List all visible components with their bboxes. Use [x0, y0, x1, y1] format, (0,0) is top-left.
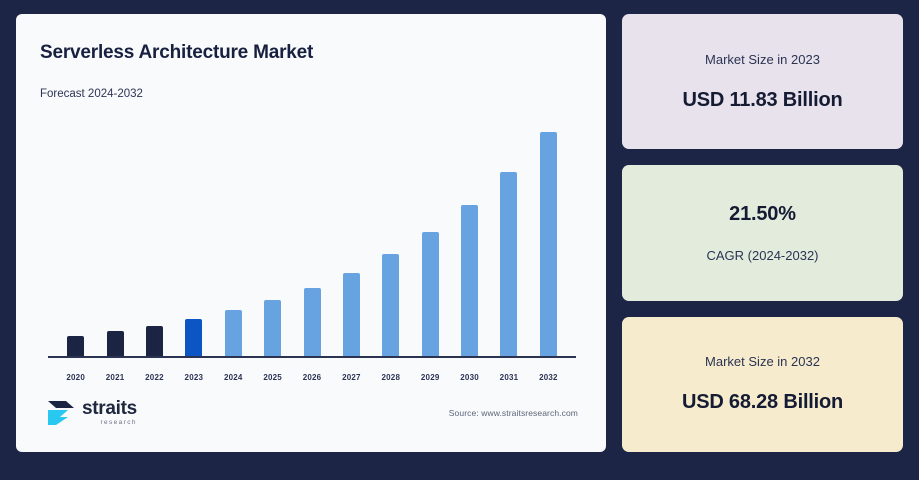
x-axis-label-2020: 2020: [66, 373, 85, 382]
bar-slot: 2030: [450, 110, 489, 358]
bar-slot: 2023: [174, 110, 213, 358]
bar-2024: [225, 310, 242, 358]
stat-card-1: Market Size in 2023USD 11.83 Billion: [622, 14, 903, 149]
x-axis-label-2023: 2023: [185, 373, 204, 382]
bar-2028: [382, 254, 399, 358]
logo-subtext: research: [100, 420, 137, 427]
x-axis-label-2029: 2029: [421, 373, 440, 382]
bar-slot: 2029: [411, 110, 450, 358]
x-axis-label-2031: 2031: [500, 373, 519, 382]
stat-card-caption: Market Size in 2023: [705, 52, 820, 67]
chart-title: Serverless Architecture Market: [40, 42, 582, 64]
x-axis-label-2024: 2024: [224, 373, 243, 382]
bar-slot: 2032: [529, 110, 568, 358]
logo-text: straits research: [82, 399, 137, 427]
x-axis-label-2027: 2027: [342, 373, 361, 382]
bar-2027: [343, 273, 360, 358]
straits-research-logo: straits research: [46, 399, 137, 427]
bar-2021: [107, 331, 124, 358]
chart-panel: Serverless Architecture Market Forecast …: [16, 14, 606, 452]
bar-2020: [67, 336, 84, 358]
stat-card-value: 21.50%: [729, 203, 796, 226]
x-axis-label-2026: 2026: [303, 373, 322, 382]
bar-slot: 2026: [292, 110, 331, 358]
bar-2023: [185, 319, 202, 358]
bar-2025: [264, 300, 281, 358]
stat-card-caption: Market Size in 2032: [705, 354, 820, 369]
stat-card-list: Market Size in 2023USD 11.83 Billion21.5…: [622, 14, 903, 452]
bar-2031: [500, 172, 517, 358]
x-axis-label-2025: 2025: [263, 373, 282, 382]
stat-card-value: USD 68.28 Billion: [682, 391, 843, 414]
stat-card-3: Market Size in 2032USD 68.28 Billion: [622, 317, 903, 452]
bar-slot: 2028: [371, 110, 410, 358]
bar-slot: 2027: [332, 110, 371, 358]
bar-2032: [540, 132, 557, 358]
bar-slot: 2020: [56, 110, 95, 358]
panel-footer: straits research Source: www.straitsrese…: [40, 390, 582, 436]
x-axis-label-2032: 2032: [539, 373, 558, 382]
chart-subtitle: Forecast 2024-2032: [40, 88, 582, 100]
x-axis-label-2028: 2028: [382, 373, 401, 382]
bar-chart-plot-area: 2020202120222023202420252026202720282029…: [40, 106, 582, 390]
bar-2030: [461, 205, 478, 358]
bar-slot: 2031: [489, 110, 528, 358]
bar-slot: 2025: [253, 110, 292, 358]
straits-arrow-logo-icon: [46, 399, 76, 427]
bar-2026: [304, 288, 321, 358]
stat-card-2: 21.50%CAGR (2024-2032): [622, 165, 903, 300]
bar-slot: 2022: [135, 110, 174, 358]
bar-slot: 2021: [95, 110, 134, 358]
stat-card-caption: CAGR (2024-2032): [707, 248, 819, 263]
x-axis-label-2021: 2021: [106, 373, 125, 382]
x-axis-label-2030: 2030: [460, 373, 479, 382]
infographic-root: Serverless Architecture Market Forecast …: [0, 0, 919, 480]
logo-wordmark: straits: [82, 399, 137, 418]
bar-series: 2020202120222023202420252026202720282029…: [56, 110, 568, 358]
x-axis-label-2022: 2022: [145, 373, 164, 382]
x-axis-line: [48, 356, 576, 358]
bar-2029: [422, 232, 439, 358]
bar-slot: 2024: [214, 110, 253, 358]
stat-card-value: USD 11.83 Billion: [683, 89, 843, 112]
bar-2022: [146, 326, 163, 358]
source-attribution: Source: www.straitsresearch.com: [449, 408, 578, 418]
